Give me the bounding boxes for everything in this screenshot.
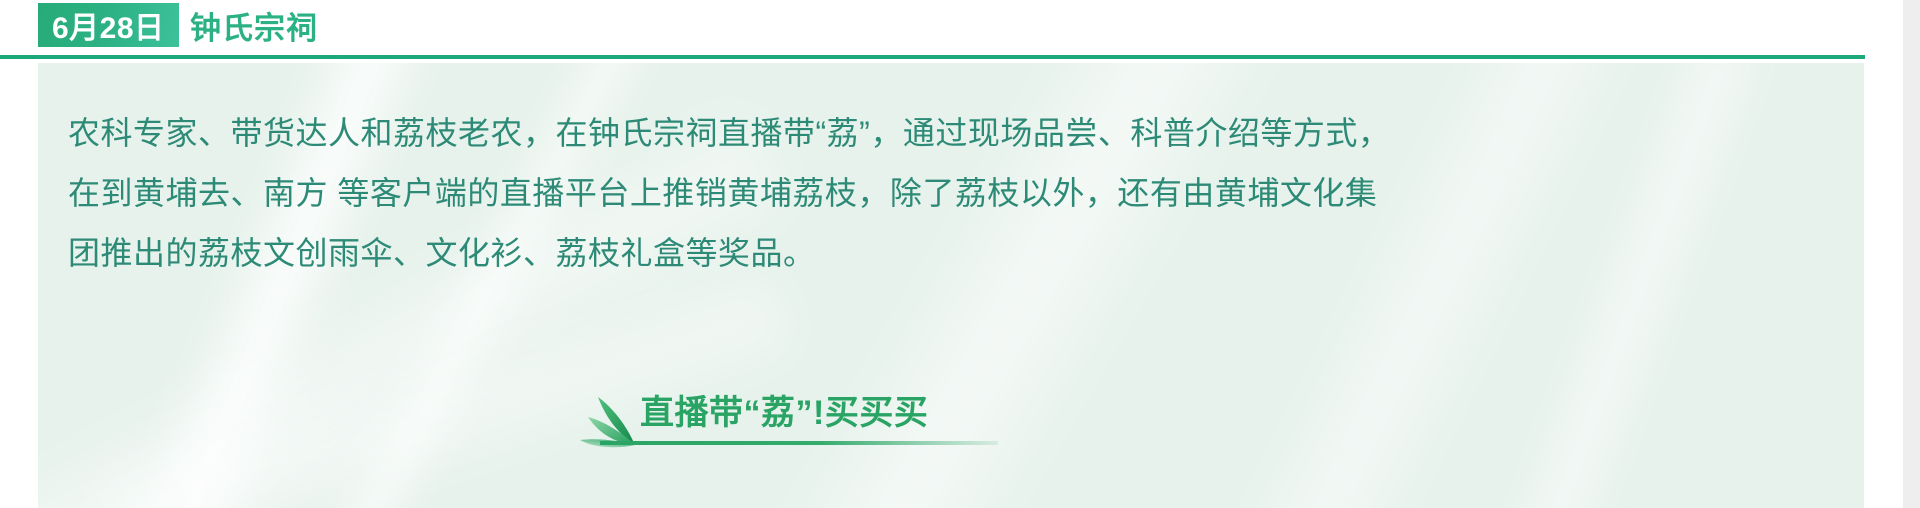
date-badge: 6月28日 xyxy=(38,3,179,47)
cta-label[interactable]: 直播带“荔”!买买买 xyxy=(640,387,928,439)
article-paragraph: 农科专家、带货达人和荔枝老农，在钟氏宗祠直播带“荔”，通过现场品尝、科普介绍等方… xyxy=(68,103,1828,283)
watermark-streak xyxy=(98,258,798,508)
article-header: 6月28日 钟氏宗祠 xyxy=(0,0,1903,58)
page-title: 钟氏宗祠 xyxy=(190,2,318,48)
cta-underline xyxy=(600,441,998,445)
cta-block[interactable]: 直播带“荔”!买买买 xyxy=(578,387,998,455)
header-divider xyxy=(0,55,1865,59)
article-card: 6月28日 钟氏宗祠 农科专家、带货达人和荔枝老农，在钟氏宗祠直播带“荔”，通过… xyxy=(0,0,1903,508)
content-panel: 农科专家、带货达人和荔枝老农，在钟氏宗祠直播带“荔”，通过现场品尝、科普介绍等方… xyxy=(38,63,1864,508)
page-gutter xyxy=(1903,0,1920,508)
